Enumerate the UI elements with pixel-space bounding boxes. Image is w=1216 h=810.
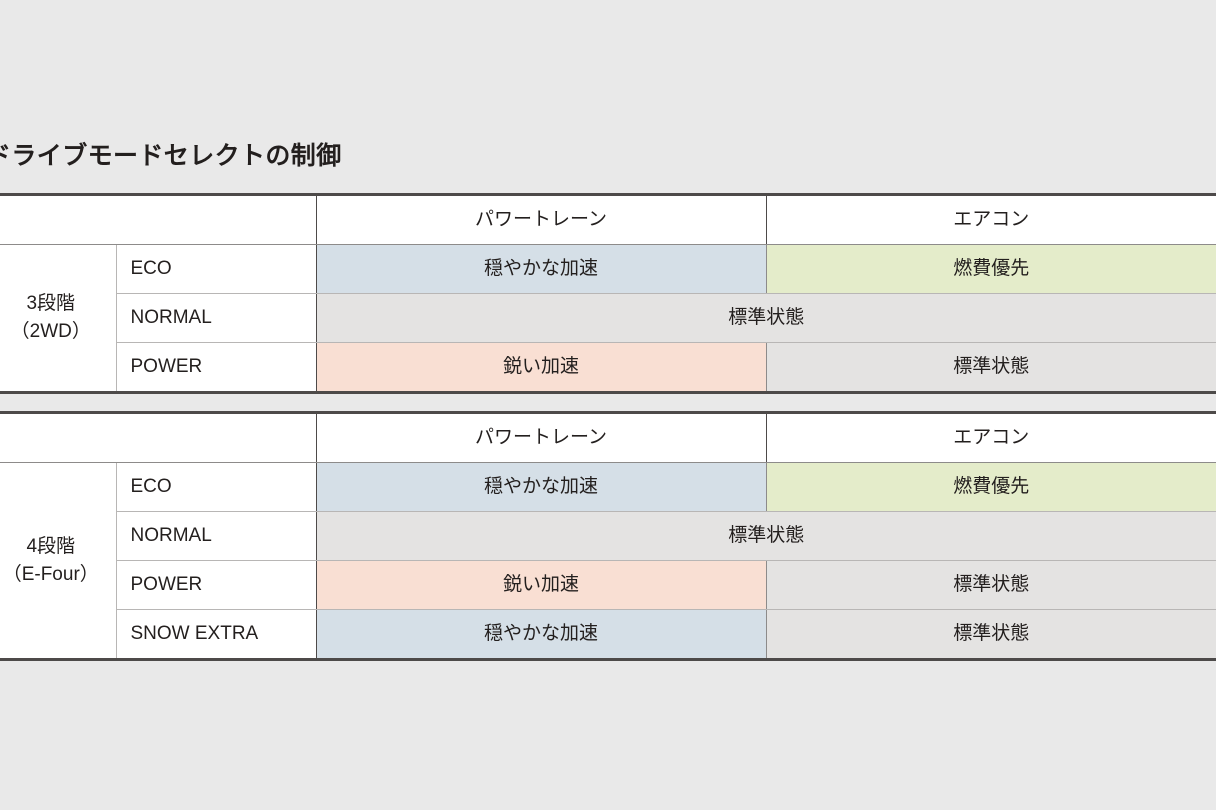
table-body: パワートレーンエアコン4段階（E-Four）ECO穏やかな加速燃費優先NORMA… bbox=[0, 413, 1216, 660]
page-content: ドライブモードセレクトの制御 パワートレーンエアコン3段階（2WD）ECO穏やか… bbox=[0, 0, 1216, 810]
drive-mode-table-3-stage: パワートレーンエアコン3段階（2WD）ECO穏やかな加速燃費優先NORMAL標準… bbox=[0, 193, 1216, 394]
powertrain-value-cell: 穏やかな加速 bbox=[316, 610, 766, 660]
header-blank-cell bbox=[0, 413, 316, 463]
group-label-line2: （E-Four） bbox=[0, 561, 116, 589]
group-label-line1: 4段階 bbox=[26, 536, 75, 557]
aircon-value-cell: 燃費優先 bbox=[766, 463, 1216, 512]
table-row: SNOW EXTRA穏やかな加速標準状態 bbox=[0, 610, 1216, 660]
header-blank-cell bbox=[0, 195, 316, 245]
aircon-value-cell: 標準状態 bbox=[766, 343, 1216, 393]
table-row: 3段階（2WD）ECO穏やかな加速燃費優先 bbox=[0, 245, 1216, 294]
group-label-cell: 4段階（E-Four） bbox=[0, 463, 116, 660]
mode-name-cell: NORMAL bbox=[116, 512, 316, 561]
merged-value-cell: 標準状態 bbox=[316, 512, 1216, 561]
group-label-line2: （2WD） bbox=[0, 318, 116, 346]
powertrain-value-cell: 鋭い加速 bbox=[316, 343, 766, 393]
page-title: ドライブモードセレクトの制御 bbox=[0, 133, 1216, 179]
table-row: NORMAL標準状態 bbox=[0, 512, 1216, 561]
powertrain-value-cell: 鋭い加速 bbox=[316, 561, 766, 610]
mode-name-cell: NORMAL bbox=[116, 294, 316, 343]
table-row: NORMAL標準状態 bbox=[0, 294, 1216, 343]
mode-name-cell: POWER bbox=[116, 561, 316, 610]
header-aircon: エアコン bbox=[766, 413, 1216, 463]
aircon-value-cell: 燃費優先 bbox=[766, 245, 1216, 294]
mode-name-cell: ECO bbox=[116, 463, 316, 512]
table-header-row: パワートレーンエアコン bbox=[0, 413, 1216, 463]
merged-value-cell: 標準状態 bbox=[316, 294, 1216, 343]
aircon-value-cell: 標準状態 bbox=[766, 610, 1216, 660]
group-label-line1: 3段階 bbox=[26, 293, 75, 314]
powertrain-value-cell: 穏やかな加速 bbox=[316, 245, 766, 294]
header-aircon: エアコン bbox=[766, 195, 1216, 245]
powertrain-value-cell: 穏やかな加速 bbox=[316, 463, 766, 512]
table-row: POWER鋭い加速標準状態 bbox=[0, 561, 1216, 610]
table-header-row: パワートレーンエアコン bbox=[0, 195, 1216, 245]
header-powertrain: パワートレーン bbox=[316, 195, 766, 245]
table-row: 4段階（E-Four）ECO穏やかな加速燃費優先 bbox=[0, 463, 1216, 512]
mode-name-cell: SNOW EXTRA bbox=[116, 610, 316, 660]
group-label-cell: 3段階（2WD） bbox=[0, 245, 116, 393]
drive-mode-table-4-stage: パワートレーンエアコン4段階（E-Four）ECO穏やかな加速燃費優先NORMA… bbox=[0, 411, 1216, 661]
table-row: POWER鋭い加速標準状態 bbox=[0, 343, 1216, 393]
mode-name-cell: ECO bbox=[116, 245, 316, 294]
table-body: パワートレーンエアコン3段階（2WD）ECO穏やかな加速燃費優先NORMAL標準… bbox=[0, 195, 1216, 393]
aircon-value-cell: 標準状態 bbox=[766, 561, 1216, 610]
mode-name-cell: POWER bbox=[116, 343, 316, 393]
header-powertrain: パワートレーン bbox=[316, 413, 766, 463]
